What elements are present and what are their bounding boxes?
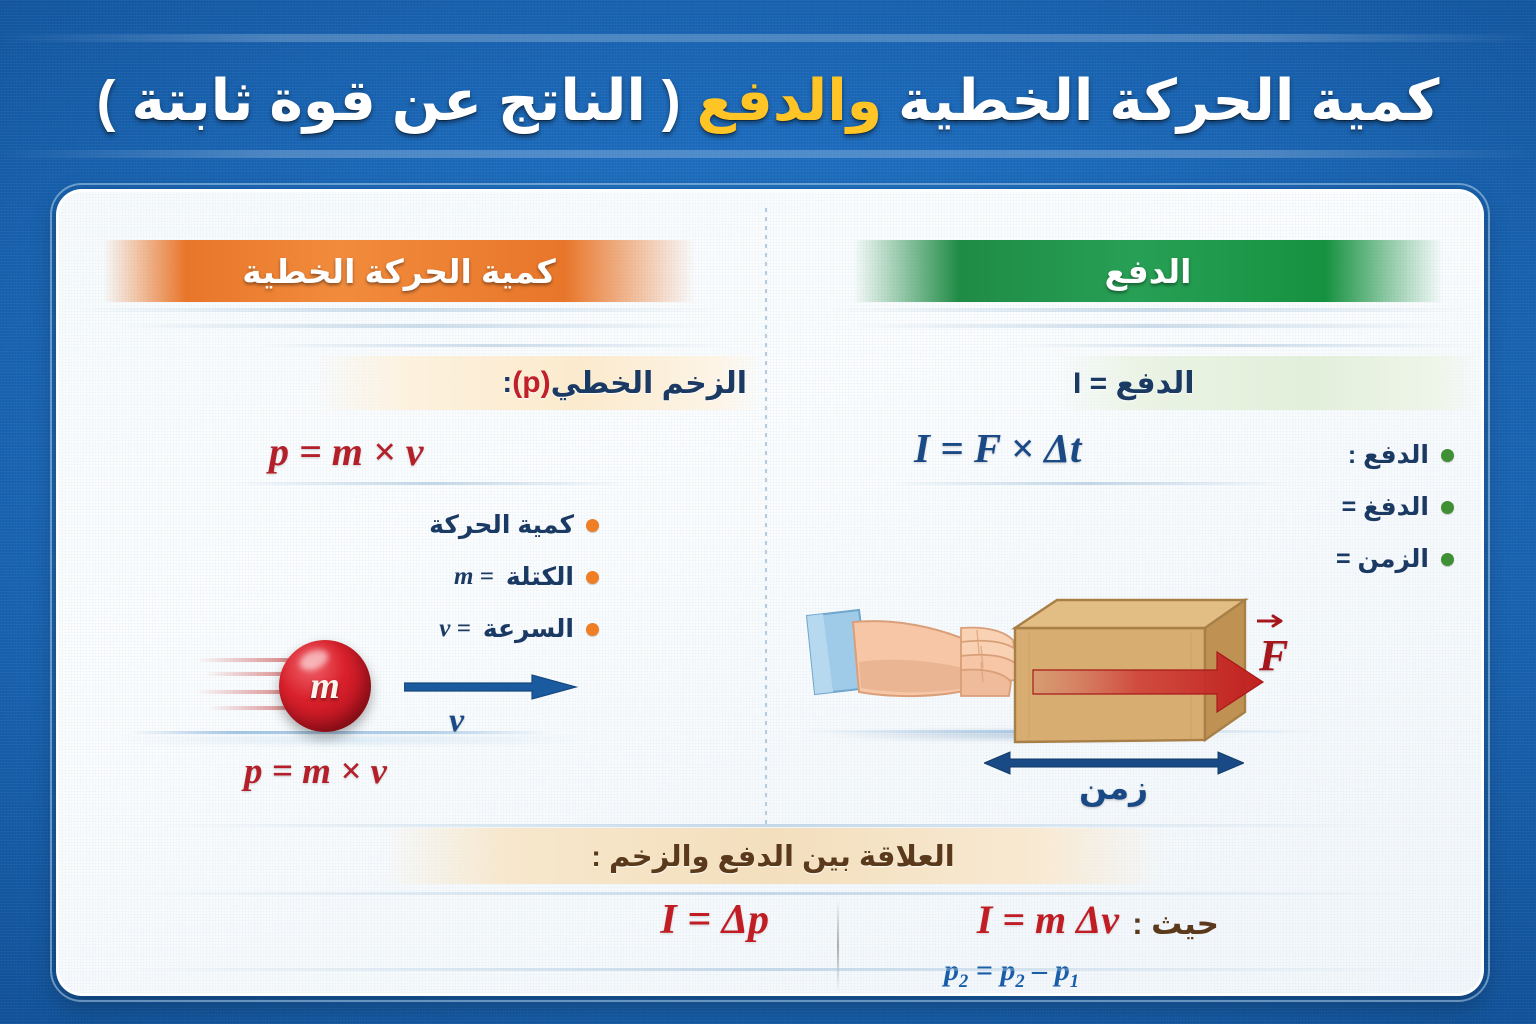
left-bullet-label-1: الكتلة bbox=[506, 562, 574, 592]
mass-ball-label: m bbox=[310, 664, 340, 708]
left-subtitle-prefix: الزخم الخطي bbox=[551, 366, 747, 401]
left-bullet-label-0: كمية الحركة bbox=[429, 510, 574, 540]
delta-p-lhs-sub: 2 bbox=[959, 971, 968, 992]
time-label: زمن bbox=[1079, 768, 1148, 807]
left-column-header: كمية الحركة الخطية bbox=[103, 240, 695, 302]
title-band-top bbox=[0, 34, 1536, 42]
vector-arrow-icon bbox=[1257, 614, 1291, 628]
infographic-canvas: كمية الحركة الخطية والدفع ( الناتج عن قو… bbox=[0, 0, 1536, 1024]
right-bullet-label-2: الزمن = bbox=[1336, 544, 1429, 574]
bullet-dot-icon bbox=[1441, 501, 1454, 514]
right-column-header-text: الدفع bbox=[1105, 252, 1192, 291]
list-item: الدفغ = bbox=[1239, 492, 1454, 522]
delta-p-definition: p2 = p2 – p1 bbox=[944, 954, 1079, 993]
left-header-rule-2 bbox=[119, 324, 719, 328]
right-bullet-label-1: الدفغ = bbox=[1342, 492, 1429, 522]
momentum-diagram: m v bbox=[119, 602, 679, 792]
momentum-formula-rule bbox=[229, 482, 629, 485]
relation-row: حيث : I = m Δv p2 = p2 – p1 I = Δp bbox=[309, 892, 1239, 992]
title-highlight: والدفع bbox=[697, 69, 883, 133]
list-item: كمية الحركة bbox=[359, 510, 599, 540]
bullet-dot-icon bbox=[586, 519, 599, 532]
impulse-momentum-equation-1: I = Δp bbox=[660, 896, 769, 944]
bullet-dot-icon bbox=[1441, 553, 1454, 566]
left-column-header-text: كمية الحركة الخطية bbox=[242, 252, 555, 291]
impulse-formula-rule bbox=[889, 482, 1289, 485]
left-subtitle-rule bbox=[259, 344, 729, 347]
right-subtitle-rule bbox=[1009, 344, 1469, 347]
bullet-dot-icon bbox=[1441, 449, 1454, 462]
left-bullet-symbol-1: = m bbox=[454, 563, 494, 591]
bottom-rule-1 bbox=[159, 824, 1379, 827]
force-label-text: F bbox=[1259, 631, 1288, 680]
impulse-formula: I = F × Δt bbox=[914, 424, 1081, 472]
velocity-arrow-icon bbox=[404, 672, 579, 702]
right-bullet-label-0: الدفع : bbox=[1348, 440, 1429, 470]
title-part-2: ( الناتج عن قوة ثابتة ) bbox=[97, 69, 697, 133]
left-subtitle-band: الزخم الخطي(p) : bbox=[313, 356, 761, 410]
left-subtitle-symbol: (p) bbox=[512, 366, 550, 400]
title-part-1: كمية الحركة الخطية bbox=[882, 69, 1439, 133]
where-label: حيث : bbox=[1132, 906, 1219, 942]
page-title: كمية الحركة الخطية والدفع ( الناتج عن قو… bbox=[0, 46, 1536, 156]
momentum-formula: p = m × v bbox=[269, 428, 423, 475]
relation-header: العلاقة بين الدفع والزخم : bbox=[383, 828, 1163, 884]
velocity-label: v bbox=[449, 702, 464, 740]
left-header-rule-1 bbox=[79, 308, 719, 312]
equation-separator bbox=[837, 900, 839, 992]
right-subtitle-text: الدفع = I bbox=[1073, 366, 1195, 401]
right-column-header: الدفع bbox=[853, 240, 1443, 302]
column-divider bbox=[765, 208, 767, 828]
bottom-rule-3 bbox=[119, 968, 1419, 971]
delta-p-mid-sub: 2 bbox=[1015, 971, 1024, 992]
ground-line bbox=[129, 731, 549, 734]
right-subtitle-band: الدفع = I bbox=[1059, 356, 1477, 410]
hand-pushing-box-illustration bbox=[789, 570, 1349, 820]
delta-p-tail-sub: 1 bbox=[1070, 971, 1079, 992]
page-title-text: كمية الحركة الخطية والدفع ( الناتج عن قو… bbox=[97, 68, 1440, 134]
relation-header-text: العلاقة بين الدفع والزخم : bbox=[591, 839, 954, 874]
bullet-dot-icon bbox=[586, 571, 599, 584]
mass-ball-icon: m bbox=[279, 640, 371, 732]
list-item: الكتلة = m bbox=[359, 562, 599, 592]
force-label: F bbox=[1259, 630, 1288, 681]
impulse-momentum-equation-2: I = m Δv bbox=[977, 896, 1119, 943]
momentum-caption-formula: p = m × v bbox=[244, 750, 387, 793]
right-header-rule-2 bbox=[849, 324, 1449, 328]
right-header-rule-1 bbox=[829, 308, 1469, 312]
list-item: الدفع : bbox=[1239, 440, 1454, 470]
left-subtitle-suffix: : bbox=[502, 366, 512, 400]
content-card: كمية الحركة الخطية الزخم الخطي(p) : p = … bbox=[56, 189, 1484, 996]
ground-glow bbox=[119, 736, 589, 744]
impulse-diagram: F زمن bbox=[789, 570, 1349, 820]
